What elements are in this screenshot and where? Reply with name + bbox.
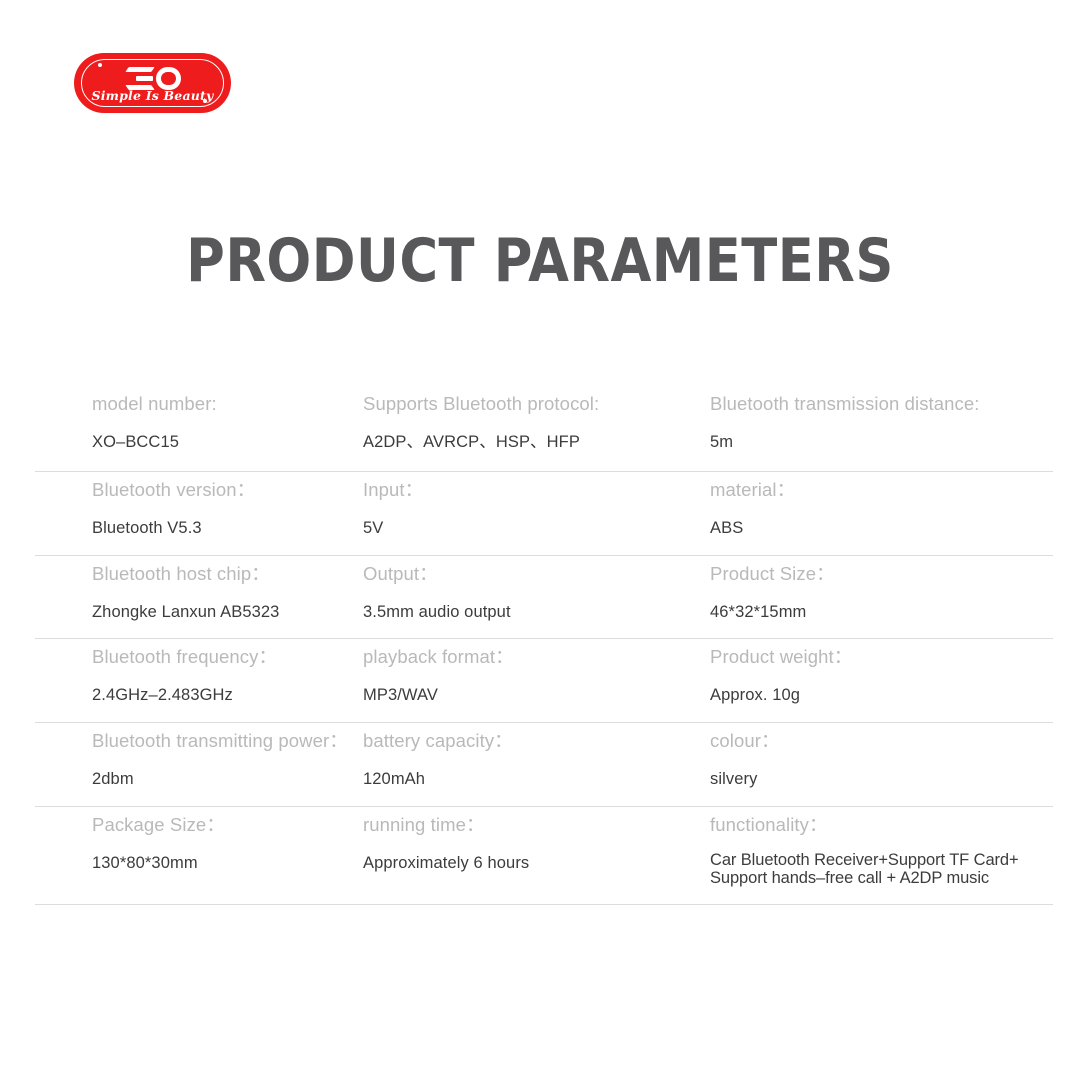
spec-label: Bluetooth transmission distance: xyxy=(710,392,1041,416)
spec-value: MP3/WAV xyxy=(363,685,673,706)
spec-label: model number: xyxy=(92,392,348,416)
page-title: PRODUCT PARAMETERS xyxy=(65,228,1015,294)
spec-cell: Bluetooth transmitting power： 2dbm xyxy=(35,729,360,790)
spec-value: 2dbm xyxy=(92,769,348,790)
spec-label: Package Size： xyxy=(92,813,348,837)
spec-cell: Bluetooth frequency： 2.4GHz–2.483GHz xyxy=(35,645,360,706)
product-parameters-table: model number: XO–BCC15 Supports Bluetoot… xyxy=(35,392,1053,905)
spec-label: Input： xyxy=(363,478,673,502)
logo-tagline: Simple Is Beauty xyxy=(74,90,231,103)
spec-value: ABS xyxy=(710,518,1041,539)
spec-cell: Product weight： Approx. 10g xyxy=(685,645,1053,706)
table-row: Package Size： 130*80*30mm running time： … xyxy=(35,807,1053,905)
spec-value: 130*80*30mm xyxy=(92,853,348,874)
spec-cell: battery capacity： 120mAh xyxy=(360,729,685,790)
spec-label: Supports Bluetooth protocol: xyxy=(363,392,673,416)
spec-value: Zhongke Lanxun AB5323 xyxy=(92,602,348,623)
spec-cell: Bluetooth transmission distance: 5m xyxy=(685,392,1053,455)
spec-cell: material： ABS xyxy=(685,478,1053,539)
spec-cell: functionality： Car Bluetooth Receiver+Su… xyxy=(685,813,1053,888)
spec-label: running time： xyxy=(363,813,673,837)
spec-cell: Supports Bluetooth protocol: A2DP、AVRCP、… xyxy=(360,392,685,455)
table-row: Bluetooth transmitting power： 2dbm batte… xyxy=(35,723,1053,807)
spec-cell: model number: XO–BCC15 xyxy=(35,392,360,455)
spec-value: 5m xyxy=(710,432,1041,453)
spec-label: material： xyxy=(710,478,1041,502)
spec-value: XO–BCC15 xyxy=(92,432,348,453)
spec-label: Product weight： xyxy=(710,645,1041,669)
spec-value: silvery xyxy=(710,769,1041,790)
table-row: Bluetooth version： Bluetooth V5.3 Input：… xyxy=(35,472,1053,556)
spec-cell: Bluetooth version： Bluetooth V5.3 xyxy=(35,478,360,539)
spec-cell: Output： 3.5mm audio output xyxy=(360,562,685,623)
brand-logo: Simple Is Beauty xyxy=(74,53,231,113)
spec-value: 5V xyxy=(363,518,673,539)
spec-cell: playback format： MP3/WAV xyxy=(360,645,685,706)
logo-o-glyph xyxy=(156,67,181,90)
spec-value: Car Bluetooth Receiver+Support TF Card+ … xyxy=(710,851,1041,888)
spec-value: A2DP、AVRCP、HSP、HFP xyxy=(363,432,673,453)
table-row: Bluetooth frequency： 2.4GHz–2.483GHz pla… xyxy=(35,639,1053,723)
spec-label: Bluetooth transmitting power： xyxy=(92,729,348,753)
table-row: model number: XO–BCC15 Supports Bluetoot… xyxy=(35,392,1053,472)
spec-value: 3.5mm audio output xyxy=(363,602,673,623)
spec-cell: Package Size： 130*80*30mm xyxy=(35,813,360,888)
table-row: Bluetooth host chip： Zhongke Lanxun AB53… xyxy=(35,556,1053,640)
spec-label: Output： xyxy=(363,562,673,586)
spec-value: Approximately 6 hours xyxy=(363,853,673,874)
spec-label: colour： xyxy=(710,729,1041,753)
spec-value: 120mAh xyxy=(363,769,673,790)
spec-value: Bluetooth V5.3 xyxy=(92,518,348,539)
spec-label: Bluetooth frequency： xyxy=(92,645,348,669)
spec-cell: Product Size： 46*32*15mm xyxy=(685,562,1053,623)
spec-cell: running time： Approximately 6 hours xyxy=(360,813,685,888)
spec-label: Bluetooth version： xyxy=(92,478,348,502)
spec-value: 2.4GHz–2.483GHz xyxy=(92,685,348,706)
spec-cell: colour： silvery xyxy=(685,729,1053,790)
spec-cell: Bluetooth host chip： Zhongke Lanxun AB53… xyxy=(35,562,360,623)
spec-value: 46*32*15mm xyxy=(710,602,1041,623)
logo-x-glyph xyxy=(125,67,155,90)
spec-label: functionality： xyxy=(710,813,1041,837)
spec-label: Bluetooth host chip： xyxy=(92,562,348,586)
logo-xo-mark xyxy=(74,62,231,88)
spec-label: Product Size： xyxy=(710,562,1041,586)
spec-cell: Input： 5V xyxy=(360,478,685,539)
spec-value: Approx. 10g xyxy=(710,685,1041,706)
spec-label: playback format： xyxy=(363,645,673,669)
spec-label: battery capacity： xyxy=(363,729,673,753)
